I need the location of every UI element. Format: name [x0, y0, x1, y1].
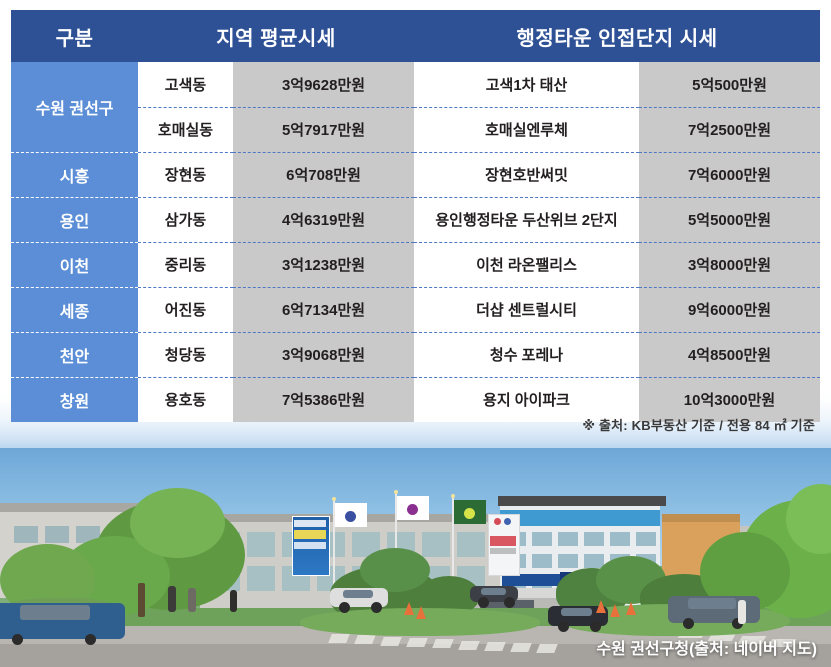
price-comparison-table: 구분 지역 평균시세 행정타운 인접단지 시세 수원 권선구고색동3억9628만… [11, 10, 820, 422]
flagpole-finial [394, 490, 398, 494]
district-office-photo: 수원 권선구청(출처: 네이버 지도) [0, 448, 831, 667]
cell-region: 시흥 [11, 152, 138, 197]
cell-complex-name: 더샵 센트럴시티 [414, 287, 639, 332]
cell-dong: 어진동 [138, 287, 233, 332]
cell-dong: 고색동 [138, 62, 233, 107]
table-header-row: 구분 지역 평균시세 행정타운 인접단지 시세 [11, 10, 820, 62]
banner-blue-line2 [294, 530, 326, 539]
traffic-cone [596, 600, 606, 613]
cell-region: 수원 권선구 [11, 62, 138, 152]
flag-emblem [464, 508, 475, 519]
window [584, 532, 604, 546]
window [422, 532, 450, 557]
tree-canopy [130, 488, 225, 558]
flag-emblem [407, 504, 418, 515]
cell-average-price: 7억5386만원 [233, 377, 414, 422]
banner-white-subline [490, 548, 516, 554]
car-window [20, 605, 90, 620]
car-wheel [558, 621, 569, 632]
shrub-topiary [360, 548, 430, 592]
car-wheel [371, 602, 382, 613]
table-row: 용인삼가동4억6319만원용인행정타운 두산위브 2단지5억5000만원 [11, 197, 820, 242]
pedestrian [230, 590, 237, 612]
banner-white-dot-red [494, 518, 501, 525]
cell-region: 창원 [11, 377, 138, 422]
pedestrian [188, 588, 196, 612]
banner-white-dot-blue [504, 518, 511, 525]
pedestrian [738, 600, 746, 624]
cell-region: 천안 [11, 332, 138, 377]
cell-average-price: 5억7917만원 [233, 107, 414, 152]
flagpole-finial [451, 494, 455, 498]
cell-dong: 청당동 [138, 332, 233, 377]
car-window [343, 590, 373, 598]
cell-complex-price: 7억6000만원 [639, 152, 820, 197]
cell-complex-price: 3억8000만원 [639, 242, 820, 287]
traffic-cone [404, 602, 414, 615]
cell-complex-price: 4억8500만원 [639, 332, 820, 377]
car-wheel [683, 618, 694, 629]
cell-complex-name: 청수 포레나 [414, 332, 639, 377]
table-row: 수원 권선구고색동3억9628만원고색1차 태산5억500만원 [11, 62, 820, 107]
window [558, 532, 578, 546]
building-right-roof [498, 496, 666, 506]
infographic-top-panel: 구분 지역 평균시세 행정타운 인접단지 시세 수원 권선구고색동3억9628만… [0, 0, 831, 448]
table-body: 수원 권선구고색동3억9628만원고색1차 태산5억500만원호매실동5억791… [11, 62, 820, 422]
cell-dong: 호매실동 [138, 107, 233, 152]
window [247, 566, 275, 591]
source-note: ※ 출처: KB부동산 기준 / 전용 84 ㎡ 기준 [582, 415, 815, 434]
car-window [481, 588, 506, 595]
traffic-cone [626, 602, 636, 615]
crosswalk-stripe [484, 642, 506, 651]
cell-complex-price: 7억2500만원 [639, 107, 820, 152]
cell-average-price: 3억1238만원 [233, 242, 414, 287]
cell-complex-name: 이천 라온팰리스 [414, 242, 639, 287]
car-window [561, 608, 592, 616]
banner-blue-line1 [294, 520, 326, 527]
cell-dong: 삼가동 [138, 197, 233, 242]
table-row: 천안청당동3억9068만원청수 포레나4억8500만원 [11, 332, 820, 377]
cell-dong: 중리동 [138, 242, 233, 287]
cell-complex-name: 호매실엔루체 [414, 107, 639, 152]
window [45, 526, 69, 543]
column-header-adjacent-complex: 행정타운 인접단지 시세 [414, 10, 820, 62]
window [532, 532, 552, 546]
cell-region: 이천 [11, 242, 138, 287]
cell-dong: 장현동 [138, 152, 233, 197]
building-right-blue-band [500, 510, 660, 526]
car-wheel [85, 634, 96, 645]
column-header-region: 구분 [11, 10, 138, 62]
traffic-cone [610, 604, 620, 617]
cell-region: 용인 [11, 197, 138, 242]
car-wheel [590, 621, 601, 632]
table-row: 시흥장현동6억708만원장현호반써밋7억6000만원 [11, 152, 820, 197]
cell-average-price: 3억9628만원 [233, 62, 414, 107]
tree-trunk [138, 583, 145, 617]
flag-emblem [345, 511, 356, 522]
crosswalk-stripe [536, 644, 558, 653]
cell-complex-price: 5억500만원 [639, 62, 820, 107]
cell-complex-price: 5억5000만원 [639, 197, 820, 242]
table-row: 이천중리동3억1238만원이천 라온팰리스3억8000만원 [11, 242, 820, 287]
cell-complex-name: 고색1차 태산 [414, 62, 639, 107]
banner-blue-line3 [294, 542, 326, 549]
traffic-cone [416, 606, 426, 619]
cell-complex-name: 장현호반써밋 [414, 152, 639, 197]
window [610, 532, 630, 546]
flagpole-finial [332, 497, 336, 501]
column-header-regional-average: 지역 평균시세 [138, 10, 414, 62]
cell-region: 세종 [11, 287, 138, 332]
car-wheel [12, 634, 23, 645]
window [558, 554, 578, 568]
cell-average-price: 3억9068만원 [233, 332, 414, 377]
pedestrian [168, 586, 176, 612]
cell-complex-price: 9억6000만원 [639, 287, 820, 332]
crosswalk-stripe [432, 639, 454, 648]
banner-white-headline [490, 536, 516, 546]
window [532, 554, 552, 568]
window [247, 532, 275, 557]
window [457, 532, 485, 557]
crosswalk-stripe [510, 643, 532, 652]
photo-caption: 수원 권선구청(출처: 네이버 지도) [596, 635, 817, 659]
crosswalk-stripe [328, 634, 350, 643]
building-tan-top [662, 514, 740, 522]
car-wheel [478, 597, 489, 608]
window [636, 532, 656, 546]
car-wheel [504, 597, 515, 608]
table-row: 세종어진동6억7134만원더샵 센트럴시티9억6000만원 [11, 287, 820, 332]
cell-complex-name: 용인행정타운 두산위브 2단지 [414, 197, 639, 242]
crosswalk-stripe [406, 638, 428, 647]
crosswalk-stripe [354, 635, 376, 644]
car-window [688, 598, 736, 609]
cell-average-price: 6억7134만원 [233, 287, 414, 332]
cell-dong: 용호동 [138, 377, 233, 422]
window [14, 526, 38, 543]
crosswalk-stripe [380, 637, 402, 646]
cell-average-price: 6억708만원 [233, 152, 414, 197]
cell-average-price: 4억6319만원 [233, 197, 414, 242]
crosswalk-stripe [458, 641, 480, 650]
